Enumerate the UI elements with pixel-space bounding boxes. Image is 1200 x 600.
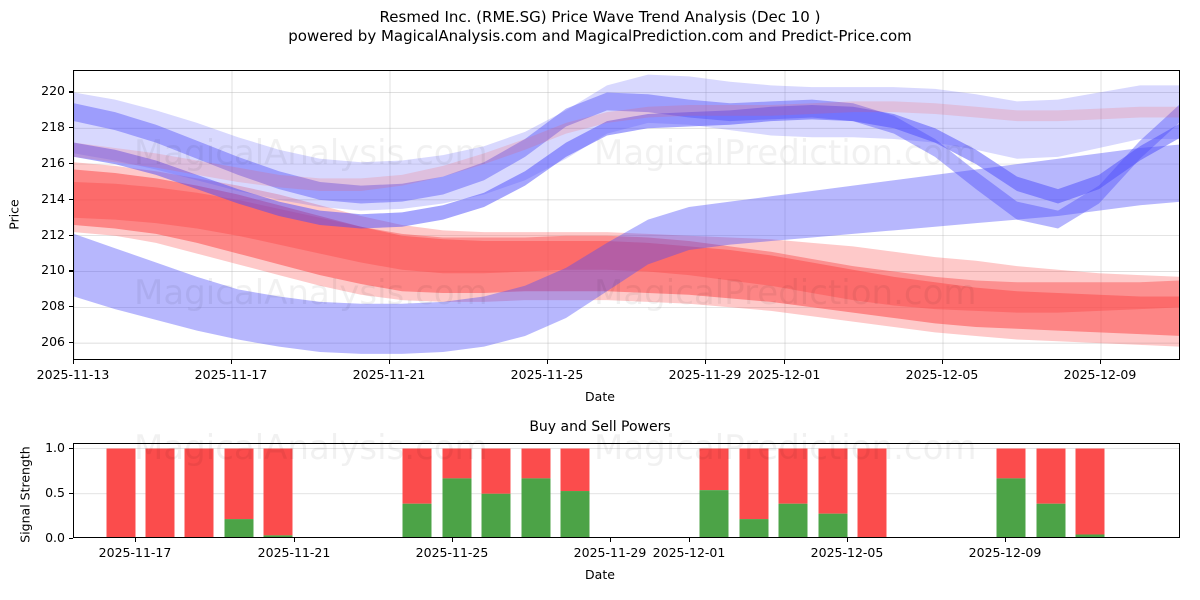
price-wave-panel: Price 206208210212214216218220 2025-11-1… [0, 0, 1200, 405]
price-y-tickmark [69, 270, 73, 271]
buy-sell-title: Buy and Sell Powers [0, 419, 1200, 435]
price-x-tickmark [231, 360, 232, 364]
bar-segment-sell[interactable] [1037, 449, 1066, 504]
price-x-tick-label: 2025-12-05 [892, 367, 992, 382]
bar-segment-sell[interactable] [146, 449, 175, 538]
bars-x-tickmark [689, 538, 690, 542]
bar-segment-buy[interactable] [482, 494, 511, 538]
bar-group[interactable] [561, 449, 590, 538]
price-y-tick-label: 208 [10, 298, 65, 313]
bars-y-tick-label: 0.5 [10, 485, 65, 500]
bars-y-tickmark [69, 448, 73, 449]
bars-y-tickmark [69, 493, 73, 494]
bar-group[interactable] [700, 449, 729, 538]
bar-segment-sell[interactable] [819, 449, 848, 514]
bar-group[interactable] [522, 449, 551, 538]
price-x-tickmark [1100, 360, 1101, 364]
bar-segment-sell[interactable] [482, 449, 511, 494]
bar-group[interactable] [819, 449, 848, 538]
bar-segment-sell[interactable] [264, 449, 293, 536]
bar-group[interactable] [264, 449, 293, 538]
bars-x-tickmark [135, 538, 136, 542]
bar-segment-buy[interactable] [700, 490, 729, 538]
bars-x-tick-label: 2025-12-01 [639, 545, 739, 560]
price-y-tickmark [69, 127, 73, 128]
price-y-tick-label: 218 [10, 119, 65, 134]
price-x-tick-label: 2025-11-13 [23, 367, 123, 382]
buy-sell-bars-svg [74, 444, 1180, 538]
bars-x-tickmark [610, 538, 611, 542]
price-x-tickmark [547, 360, 548, 364]
bar-segment-buy[interactable] [443, 478, 472, 538]
chart-page: Resmed Inc. (RME.SG) Price Wave Trend An… [0, 0, 1200, 600]
bar-segment-sell[interactable] [1076, 449, 1105, 535]
bars-x-tickmark [452, 538, 453, 542]
bar-segment-sell[interactable] [403, 449, 432, 504]
bar-segment-buy[interactable] [522, 478, 551, 538]
bar-group[interactable] [1076, 449, 1105, 538]
price-y-tickmark [69, 235, 73, 236]
bar-group[interactable] [443, 449, 472, 538]
price-y-tickmark [69, 163, 73, 164]
bar-segment-buy[interactable] [819, 514, 848, 538]
price-plot-area [73, 70, 1180, 360]
bar-group[interactable] [997, 449, 1026, 538]
bar-segment-sell[interactable] [522, 449, 551, 479]
bar-segment-sell[interactable] [443, 449, 472, 479]
bar-segment-sell[interactable] [700, 449, 729, 491]
bar-segment-buy[interactable] [779, 504, 808, 538]
bar-group[interactable] [225, 449, 254, 538]
buy-sell-plot-area [73, 443, 1180, 538]
bar-segment-buy[interactable] [561, 491, 590, 538]
bar-segment-buy[interactable] [225, 519, 254, 538]
price-wave-svg [74, 71, 1180, 360]
bar-segment-buy[interactable] [1076, 534, 1105, 538]
bar-group[interactable] [185, 449, 214, 538]
bar-segment-sell[interactable] [997, 449, 1026, 479]
price-y-tick-label: 216 [10, 155, 65, 170]
price-x-tickmark [705, 360, 706, 364]
bar-segment-sell[interactable] [858, 449, 887, 538]
price-y-tick-label: 210 [10, 262, 65, 277]
price-y-tickmark [69, 306, 73, 307]
bar-segment-buy[interactable] [403, 504, 432, 538]
bars-y-tick-label: 1.0 [10, 440, 65, 455]
price-x-tick-label: 2025-11-21 [339, 367, 439, 382]
bar-segment-buy[interactable] [264, 535, 293, 538]
bars-x-tickmark [1005, 538, 1006, 542]
price-y-tick-label: 206 [10, 334, 65, 349]
price-x-tick-label: 2025-11-25 [497, 367, 597, 382]
bars-x-tick-label: 2025-11-25 [402, 545, 502, 560]
price-x-tickmark [389, 360, 390, 364]
price-y-tickmark [69, 91, 73, 92]
bar-segment-sell[interactable] [779, 449, 808, 504]
bars-y-tick-label: 0.0 [10, 530, 65, 545]
price-x-axis-label: Date [0, 389, 1200, 404]
price-y-tickmark [69, 199, 73, 200]
bars-x-tickmark [294, 538, 295, 542]
bar-segment-buy[interactable] [997, 478, 1026, 538]
bar-group[interactable] [146, 449, 175, 538]
price-y-tick-label: 214 [10, 191, 65, 206]
price-y-tickmark [69, 342, 73, 343]
price-x-tick-label: 2025-11-17 [181, 367, 281, 382]
price-x-tickmark [73, 360, 74, 364]
bars-x-tickmark [847, 538, 848, 542]
bar-segment-buy[interactable] [1037, 504, 1066, 538]
price-x-tick-label: 2025-12-09 [1050, 367, 1150, 382]
bars-x-tick-label: 2025-12-05 [797, 545, 897, 560]
bar-group[interactable] [1037, 449, 1066, 538]
price-x-tickmark [784, 360, 785, 364]
bar-group[interactable] [740, 449, 769, 538]
bar-group[interactable] [107, 449, 136, 538]
price-x-tick-label: 2025-12-01 [734, 367, 834, 382]
bar-segment-sell[interactable] [185, 449, 214, 538]
price-y-tick-label: 220 [10, 83, 65, 98]
bar-segment-buy[interactable] [740, 519, 769, 538]
price-x-tickmark [942, 360, 943, 364]
bar-group[interactable] [858, 449, 887, 538]
bar-segment-sell[interactable] [225, 449, 254, 520]
bar-segment-sell[interactable] [561, 449, 590, 492]
bars-y-tickmark [69, 538, 73, 539]
price-y-tick-label: 212 [10, 227, 65, 242]
bar-group[interactable] [403, 449, 432, 538]
bars-x-tick-label: 2025-11-21 [244, 545, 344, 560]
bar-segment-sell[interactable] [740, 449, 769, 520]
bar-group[interactable] [482, 449, 511, 538]
bar-segment-sell[interactable] [107, 449, 136, 538]
buy-sell-panel: Buy and Sell Powers Signal Strength 0.00… [0, 405, 1200, 600]
bars-x-axis-label: Date [0, 567, 1200, 582]
bar-group[interactable] [779, 449, 808, 538]
bars-x-tick-label: 2025-12-09 [955, 545, 1055, 560]
bars-x-tick-label: 2025-11-17 [85, 545, 185, 560]
